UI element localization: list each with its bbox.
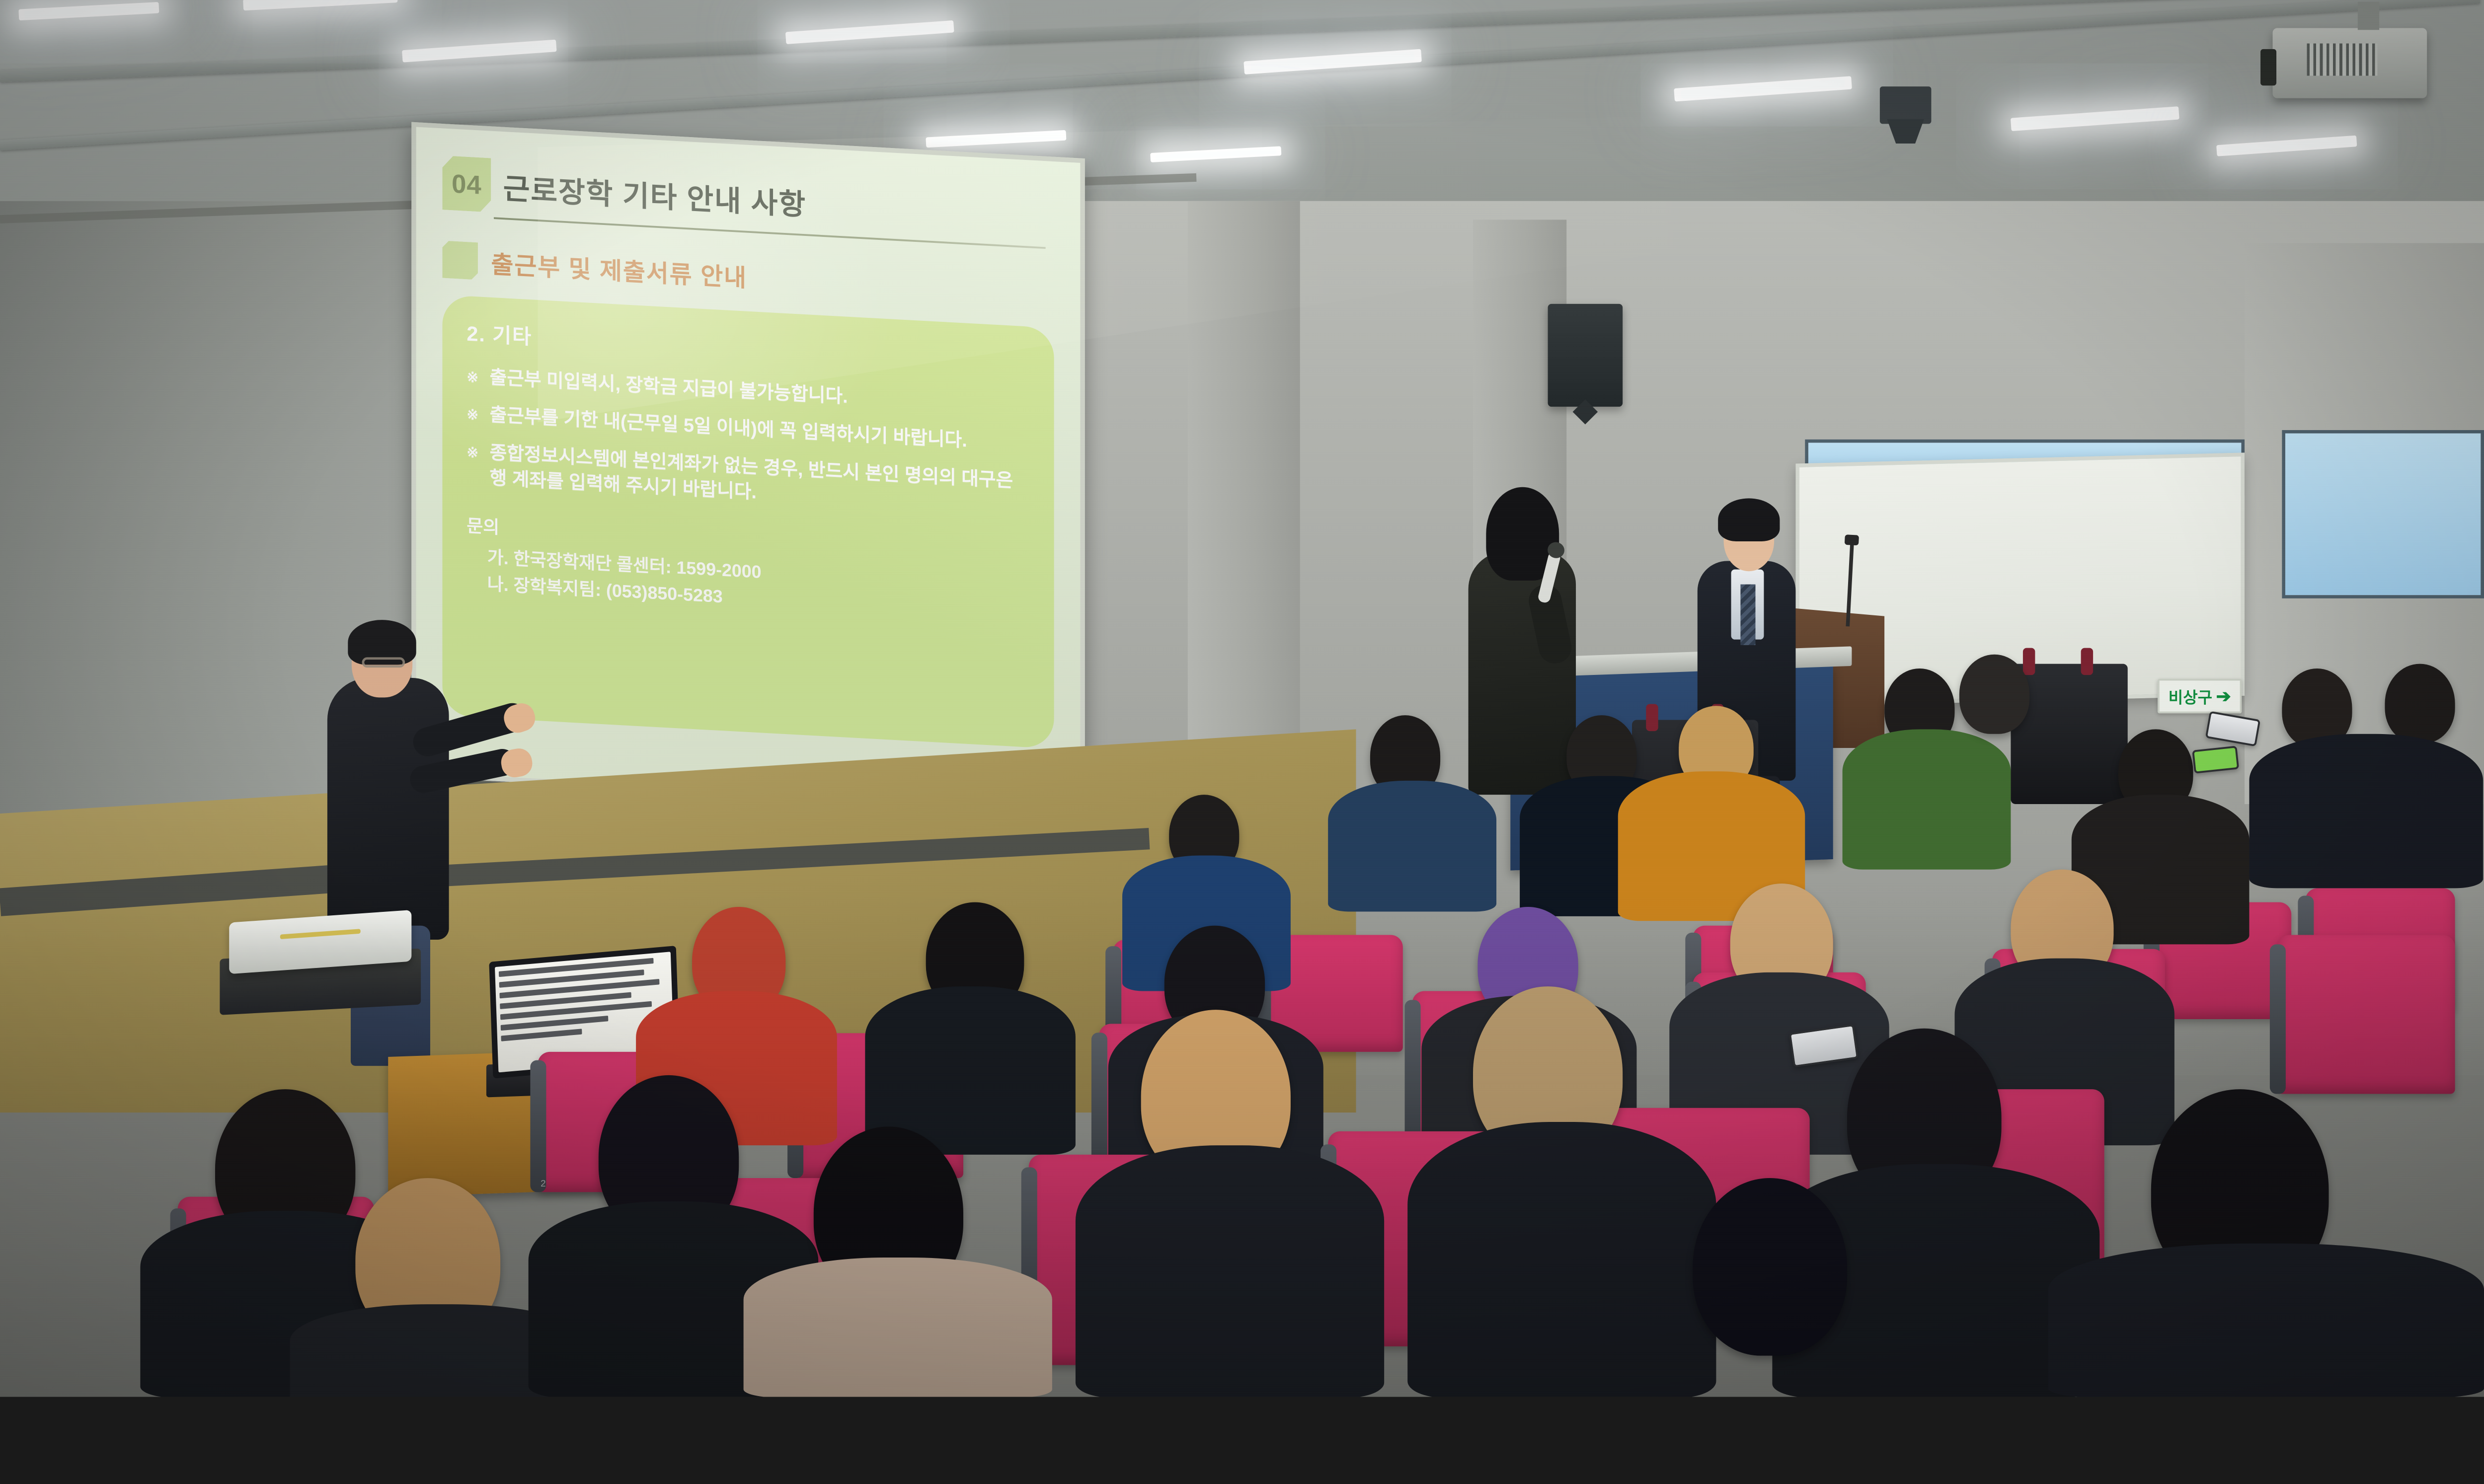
window <box>2282 430 2484 598</box>
audience-body <box>2048 1244 2484 1397</box>
wheelchair-handle <box>2023 648 2035 675</box>
seat-armrest <box>2270 945 2286 1094</box>
projector-mount <box>2357 2 2379 30</box>
slide-content-card: 2. 기타 ※ 출근부 미입력시, 장학금 지급이 불가능합니다. ※ 출근부를… <box>442 295 1054 749</box>
audience-head <box>1693 1178 1847 1356</box>
seat-number: 2 <box>541 1179 545 1189</box>
audience-body-beige <box>744 1258 1052 1397</box>
bullet-mark-icon: ※ <box>466 401 478 427</box>
slide-contact-block: 문의 가. 한국장학재단 콜센터: 1599-2000 나. 장학복지팀: (0… <box>466 511 1029 627</box>
seat[interactable] <box>2277 935 2455 1094</box>
slide-title: 근로장학 기타 안내 사항 <box>503 165 806 223</box>
bullet-mark-icon: ※ <box>466 439 478 490</box>
bullet-mark-icon: ※ <box>466 364 478 389</box>
smartphone[interactable] <box>2192 745 2239 773</box>
subheading-chip-icon <box>442 240 478 280</box>
wall-speaker <box>1548 304 1623 407</box>
audience-body <box>1407 1122 1716 1397</box>
audience-body <box>2249 734 2483 889</box>
bullet-text: 출근부 미입력시, 장학금 지급이 불가능합니다. <box>490 365 848 409</box>
seat-armrest <box>1091 1033 1107 1169</box>
interpreter-coat <box>327 678 449 940</box>
emergency-exit-sign: 비상구 ➔ <box>2158 679 2242 714</box>
ceiling-projector <box>2273 28 2427 98</box>
security-camera-icon <box>1880 86 1932 124</box>
staff-hair <box>1718 498 1780 541</box>
seat-armrest <box>530 1060 546 1192</box>
presenter-coat <box>1469 552 1576 795</box>
wall-pillar <box>1188 201 1300 790</box>
seat-armrest <box>1405 1000 1421 1141</box>
wheelchair-handle <box>2081 648 2093 675</box>
exit-arrow-icon: ➔ <box>2216 685 2231 706</box>
wheelchair-handle <box>1646 704 1658 732</box>
staff-tie <box>1740 585 1755 645</box>
audience-head-cap <box>1959 655 2029 734</box>
projector-vent <box>2307 44 2378 76</box>
projector-lens <box>2260 49 2276 85</box>
glasses-icon <box>362 657 405 668</box>
slide-section-badge: 04 <box>442 155 491 212</box>
exit-sign-label: 비상구 <box>2169 684 2212 707</box>
audience-body <box>1843 729 2011 869</box>
slide-header: 04 근로장학 기타 안내 사항 <box>442 155 1054 243</box>
slide-subheading: 출근부 및 제출서류 안내 <box>491 244 747 294</box>
audience-body <box>1076 1145 1384 1397</box>
audience-body <box>1328 781 1496 912</box>
lecture-hall-scene: 04 근로장학 기타 안내 사항 출근부 및 제출서류 안내 2. 기타 ※ 출… <box>0 0 2484 1397</box>
audience-head <box>2385 664 2455 743</box>
